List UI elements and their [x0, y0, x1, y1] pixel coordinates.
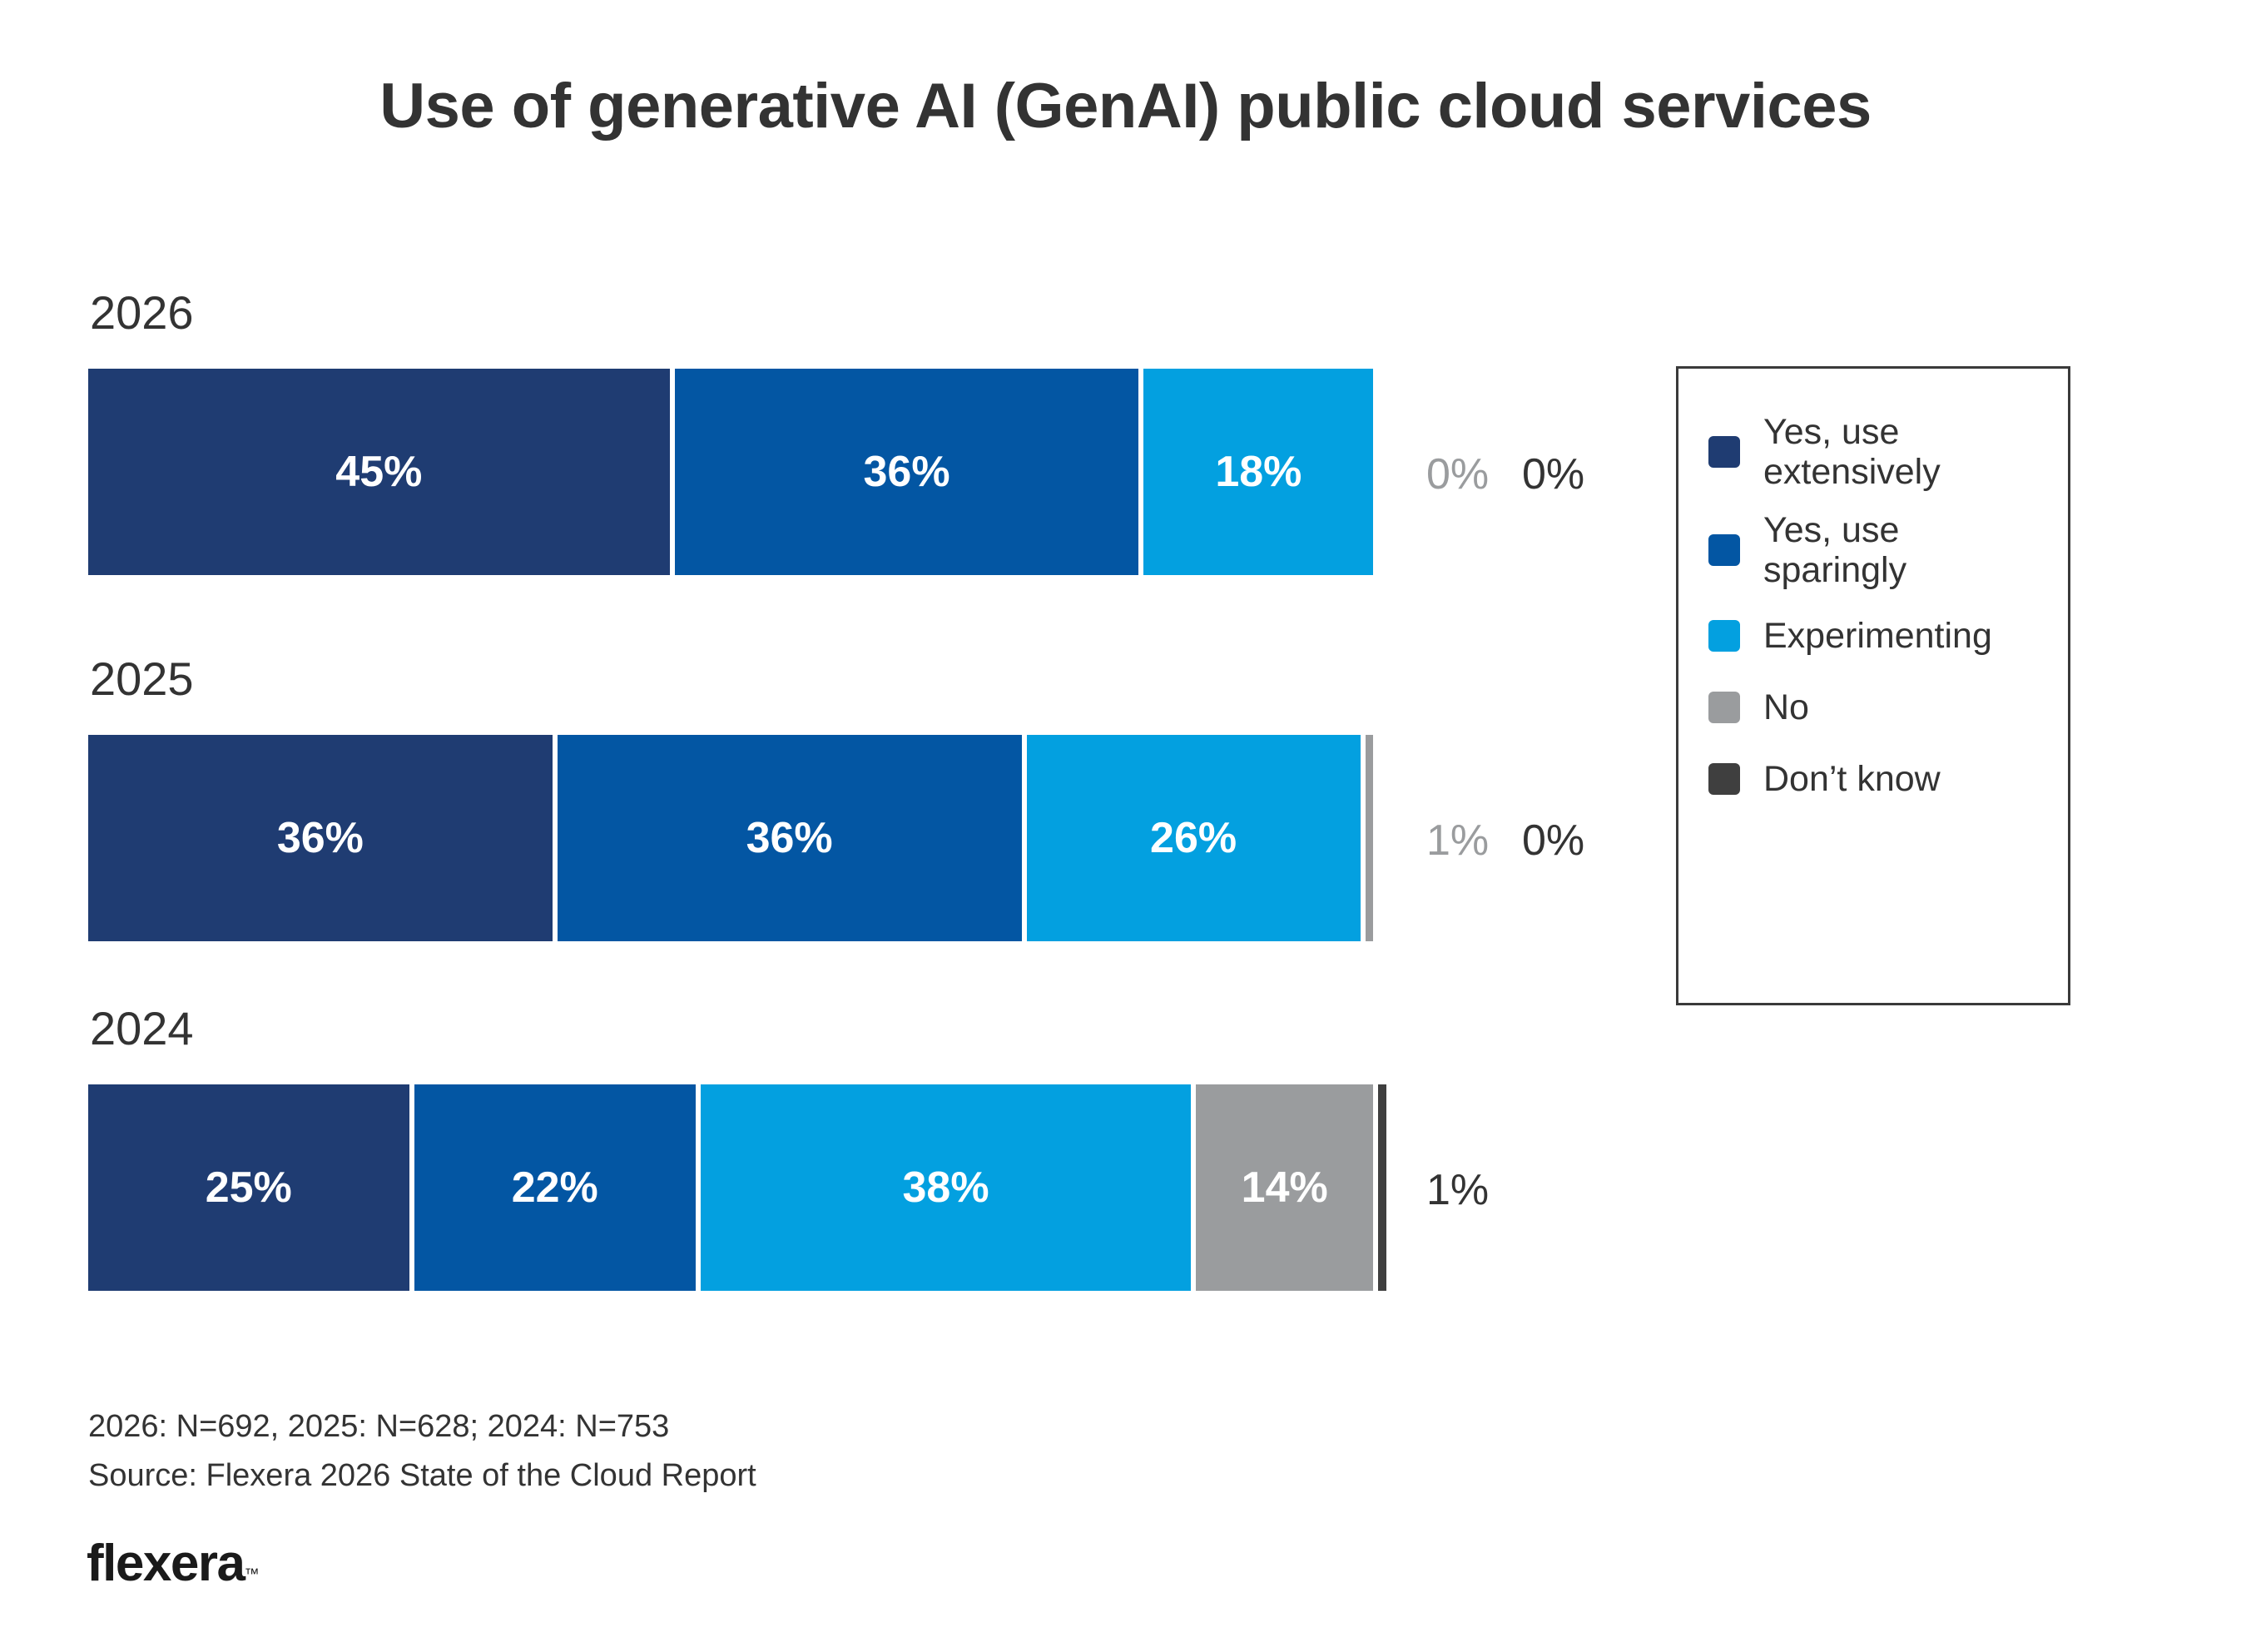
bar-segment-label: 36% [277, 816, 364, 860]
chart-page: Use of generative AI (GenAI) public clou… [0, 0, 2251, 1652]
bar-outside-label: 0% [1522, 819, 1584, 862]
bar-segment-label: 26% [1150, 816, 1237, 860]
legend-swatch-experimenting [1708, 620, 1740, 652]
bar-segment[interactable]: 22% [414, 1084, 697, 1291]
bar-segment-label: 18% [1215, 450, 1302, 494]
legend-item-label: Don’t know [1763, 759, 1941, 799]
chart-legend: Yes, use extensivelyYes, use sparinglyEx… [1676, 366, 2070, 1005]
legend-item[interactable]: No [1708, 681, 2060, 734]
bar-segment-label: 36% [746, 816, 833, 860]
bar-segment-label: 38% [903, 1166, 989, 1209]
year-label-2024: 2024 [90, 1005, 194, 1052]
bar-segment-label: 25% [206, 1166, 292, 1209]
bar-segment-label: 36% [864, 450, 950, 494]
legend-swatch-no [1708, 692, 1740, 723]
legend-item[interactable]: Yes, use extensively [1708, 412, 2060, 492]
year-label-2025: 2025 [90, 656, 194, 702]
bar-segment[interactable]: 36% [675, 369, 1139, 575]
legend-item-label: Experimenting [1763, 616, 1992, 656]
bar-track-2025: 36%36%26% [88, 735, 1391, 941]
legend-item-label: Yes, use sparingly [1763, 510, 2038, 590]
legend-swatch-yes-extensively [1708, 436, 1740, 468]
logo-wordmark: flexera [87, 1535, 244, 1592]
legend-item[interactable]: Experimenting [1708, 609, 2060, 662]
bar-segment-label: 14% [1242, 1166, 1328, 1209]
bar-segment[interactable] [1378, 1084, 1386, 1291]
legend-items: Yes, use extensivelyYes, use sparinglyEx… [1708, 412, 2060, 824]
logo-trademark: ™ [244, 1565, 259, 1582]
bar-segment[interactable]: 25% [88, 1084, 409, 1291]
bar-segment[interactable]: 45% [88, 369, 670, 575]
legend-item-label: Yes, use extensively [1763, 412, 2038, 492]
bar-outside-label: 0% [1426, 453, 1489, 496]
bar-outside-label: 1% [1426, 1168, 1489, 1212]
bar-segment[interactable]: 18% [1143, 369, 1373, 575]
bar-segment[interactable]: 38% [701, 1084, 1191, 1291]
sample-size-note: 2026: N=692, 2025: N=628; 2024: N=753 [88, 1402, 1420, 1451]
year-label-2026: 2026 [90, 290, 194, 336]
legend-item[interactable]: Yes, use sparingly [1708, 510, 2060, 590]
legend-swatch-yes-sparingly [1708, 534, 1740, 566]
bar-outside-label: 0% [1522, 453, 1584, 496]
legend-swatch-dont-know [1708, 763, 1740, 795]
bar-segment[interactable] [1366, 735, 1374, 941]
legend-item[interactable]: Don’t know [1708, 752, 2060, 806]
footer: 2026: N=692, 2025: N=628; 2024: N=753 So… [88, 1402, 1420, 1501]
flexera-logo: flexera™ [87, 1538, 259, 1590]
bar-segment-label: 45% [335, 450, 422, 494]
bar-segment[interactable]: 14% [1196, 1084, 1373, 1291]
legend-item-label: No [1763, 687, 1809, 727]
bar-track-2026: 45%36%18% [88, 369, 1391, 575]
source-note: Source: Flexera 2026 State of the Cloud … [88, 1451, 1420, 1501]
bar-segment[interactable]: 26% [1027, 735, 1361, 941]
bar-segment-label: 22% [512, 1166, 598, 1209]
bar-outside-label: 1% [1426, 819, 1489, 862]
bar-segment[interactable]: 36% [558, 735, 1022, 941]
bar-segment[interactable]: 36% [88, 735, 553, 941]
bar-track-2024: 25%22%38%14% [88, 1084, 1391, 1291]
